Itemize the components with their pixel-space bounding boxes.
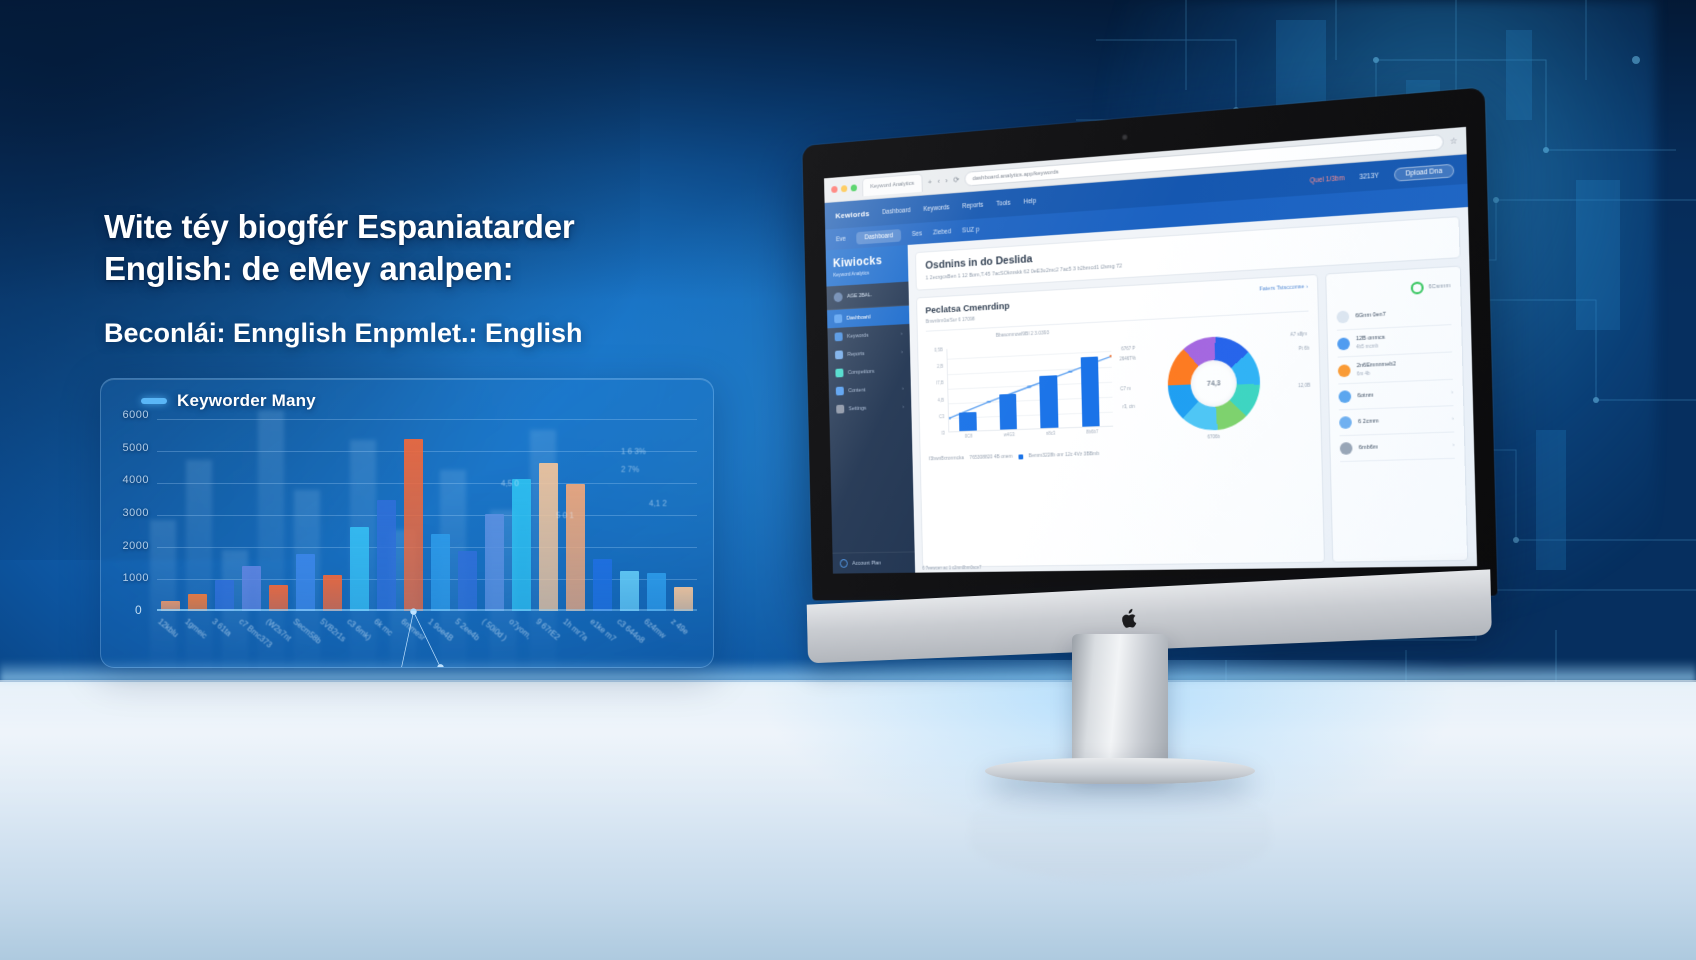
chart-y-axis: 6000 5000 4000 3000 2000 1000 bbox=[107, 415, 153, 611]
account-icon bbox=[840, 559, 848, 568]
mini-x-tick-label: w4G3 bbox=[1004, 432, 1015, 437]
hero-headline-block: Wite téy biogfér Espaniatarder English: … bbox=[104, 206, 744, 350]
mini-chart-bar bbox=[959, 412, 976, 431]
y-tick-label: 6000 bbox=[123, 409, 149, 421]
list-item-text: 6mb6m bbox=[1359, 442, 1447, 451]
donut-wrapper: 74,3 bbox=[1167, 335, 1261, 432]
forward-icon[interactable]: › bbox=[945, 176, 948, 185]
legend-swatch-icon bbox=[141, 398, 167, 404]
status-badge-label: 6Csnnm bbox=[1428, 283, 1450, 291]
x-tick-label: 1h mr7a bbox=[562, 617, 590, 643]
x-tick-label: ( 50i0d ) bbox=[481, 617, 509, 643]
donut-label-right-1: Pt 6b bbox=[1298, 346, 1309, 352]
donut-label-right-2: 12,0B bbox=[1298, 383, 1310, 389]
webcam-icon bbox=[1122, 134, 1128, 140]
nav-item-reports[interactable]: Reports bbox=[962, 201, 983, 209]
mini-x-tick-label: 0C8 bbox=[965, 434, 973, 439]
sidebar-item-label: Dashboard bbox=[847, 314, 871, 321]
card-footer-right: Bemm3228b onr 12c 4Vz 3BBmb bbox=[1029, 451, 1100, 459]
y-tick-label: 4000 bbox=[123, 474, 149, 486]
sidebar-item-label: Settings bbox=[849, 405, 867, 411]
x-tick-label: 3 61ta bbox=[211, 617, 234, 638]
donut-label-bottom: 6706b bbox=[1207, 434, 1220, 439]
chart-annotation: 1 6 3% bbox=[621, 447, 646, 456]
donut-label-right-0: A7 s8jm bbox=[1290, 331, 1307, 337]
chart-icon bbox=[835, 350, 843, 359]
list-item-text: 12B onmcs4b5 mcmb bbox=[1356, 332, 1446, 350]
chart-annotation: 4,1 2 bbox=[649, 499, 667, 508]
x-tick-label: z 49e bbox=[670, 617, 691, 636]
headline-subline: Beconlái: Ennglish Enpmlet.: English bbox=[104, 317, 744, 349]
mini-y-tick-label: 0,5B bbox=[934, 347, 943, 352]
globe-icon bbox=[1340, 442, 1353, 455]
sidebar-footer-label: Account Plan bbox=[852, 560, 881, 566]
minimize-icon[interactable] bbox=[841, 185, 847, 192]
x-tick-label: 12kblu bbox=[157, 617, 181, 639]
donut-label-left-1: 2646T% bbox=[1120, 356, 1136, 362]
sidebar-footer[interactable]: Account Plan bbox=[832, 551, 915, 573]
mini-y-tick-label: C3 bbox=[939, 414, 944, 419]
chart-annotation: 5 0 1 bbox=[556, 511, 574, 520]
apple-logo-icon bbox=[1121, 609, 1138, 630]
x-tick-label: e1ke m7 bbox=[589, 617, 618, 644]
x-tick-label: o7yom, bbox=[508, 617, 534, 641]
y-tick-label-zero: 0 bbox=[135, 603, 142, 617]
list-item-title: 6 2cmm bbox=[1358, 416, 1446, 425]
x-tick-label: c3 644o8 bbox=[616, 617, 647, 645]
list-item-title: 6otnm bbox=[1357, 390, 1445, 400]
nav-item-keywords[interactable]: Keywords bbox=[923, 204, 949, 213]
list-item[interactable]: 6mb6m› bbox=[1340, 433, 1455, 463]
progress-ring-icon bbox=[1410, 281, 1423, 294]
y-tick-label: 2000 bbox=[123, 540, 149, 552]
mini-chart-bar bbox=[1040, 376, 1059, 429]
x-tick-label: Secm58b bbox=[292, 617, 324, 646]
card-more-link[interactable]: Faters Tstscconse › bbox=[1259, 284, 1308, 293]
x-tick-label: 6mmesr bbox=[400, 617, 428, 642]
card-visualizations: Bbasomnowl9Bl 2 3.0393 0,5B2,Bl7,B4,BC3l… bbox=[926, 317, 1312, 451]
list-item-title: 6Gnm 0en7 bbox=[1355, 309, 1444, 320]
dashboard-main: Osdnins in do Deslida 1 2ecrgcsBen 1 12 … bbox=[908, 207, 1477, 573]
chart-legend: Keyworder Many bbox=[141, 391, 316, 411]
chart-line-marker bbox=[437, 664, 443, 668]
mini-chart-title: Bbasomnowl9Bl 2 3.0393 bbox=[996, 330, 1049, 339]
subnav-item-4[interactable]: SUZ p bbox=[962, 226, 979, 234]
activity-list: 6Gnm 0en712B onmcs4b5 mcmb2n6Emnnmeb26m … bbox=[1336, 299, 1454, 462]
list-item-text: 6Gnm 0en7 bbox=[1355, 309, 1444, 320]
list-item[interactable]: 6 2cmm› bbox=[1339, 406, 1454, 436]
sidebar-logo: Kiwiocks bbox=[833, 252, 901, 270]
list-item-subtitle: 6m 4b bbox=[1357, 367, 1446, 376]
folder-icon bbox=[1339, 416, 1352, 429]
app-body: Kiwiocks Keyword Analytics AGE 2BAL. Das… bbox=[826, 207, 1477, 574]
subnav-item-dashboard[interactable]: Dashboard bbox=[856, 229, 901, 245]
mini-chart-y-axis: 0,5B2,Bl7,B4,BC3l3 bbox=[926, 349, 946, 433]
dashboard-cards: Peclatsa Cmenrdinp Faters Tstscconse › B… bbox=[916, 266, 1468, 568]
monitor-stand-foot bbox=[985, 758, 1255, 784]
avatar bbox=[834, 292, 843, 302]
page-title: Wite téy biogfér Espaniatarder English: … bbox=[104, 206, 744, 289]
donut-chart: 74,3 6767 P 2646T% C7 m r3, ctn A7 s8jm bbox=[1119, 317, 1312, 445]
mini-y-tick-label: 4,B bbox=[938, 397, 944, 402]
clock-icon bbox=[1338, 364, 1351, 377]
nav-item-dashboard[interactable]: Dashboard bbox=[882, 207, 911, 216]
bookmark-icon[interactable]: ☆ bbox=[1450, 136, 1458, 146]
cloud-icon bbox=[1337, 310, 1350, 323]
activity-panel: 6Csnnm 6Gnm 0en712B onmcs4b5 mcmb2n6Emnn… bbox=[1325, 266, 1468, 563]
card-footer-left: f3bwnBrzonmcka bbox=[929, 455, 964, 462]
chart-annotation: 2 7% bbox=[621, 465, 639, 474]
chevron-right-icon: › bbox=[1451, 389, 1453, 395]
subnav-item-3[interactable]: Ziebed bbox=[933, 228, 951, 236]
imac-computer: Keyword Analytics + ‹ › ⟳ dashboard.anal… bbox=[760, 118, 1480, 798]
mini-x-tick-label: 8b6b7 bbox=[1086, 429, 1098, 434]
tag-icon bbox=[835, 332, 843, 341]
monitor-screen: Keyword Analytics + ‹ › ⟳ dashboard.anal… bbox=[824, 127, 1477, 574]
alert-text: Quel 1/3bm bbox=[1310, 174, 1345, 184]
nav-item-tools[interactable]: Tools bbox=[996, 199, 1010, 207]
list-item-text: 6 2cmm bbox=[1358, 416, 1446, 425]
app-brand: Kewiords bbox=[835, 209, 869, 220]
list-item-title: 6mb6m bbox=[1359, 442, 1447, 451]
mini-y-tick-label: l3 bbox=[941, 430, 944, 435]
chevron-right-icon: › bbox=[1453, 442, 1455, 448]
browser-tab[interactable]: Keyword Analytics bbox=[862, 173, 922, 196]
list-item-text: 6otnm bbox=[1357, 390, 1445, 400]
reload-icon[interactable]: ⟳ bbox=[953, 175, 959, 184]
back-icon[interactable]: ‹ bbox=[937, 177, 940, 186]
performance-card: Peclatsa Cmenrdinp Faters Tstscconse › B… bbox=[916, 274, 1325, 568]
y-tick-label: 1000 bbox=[123, 572, 149, 584]
mail-icon bbox=[1337, 337, 1350, 350]
mini-y-tick-label: l7,B bbox=[936, 380, 943, 385]
sidebar-item-label: Reports bbox=[847, 351, 864, 358]
scene: Wite téy biogfér Espaniatarder English: … bbox=[0, 0, 1696, 960]
close-icon[interactable] bbox=[831, 186, 837, 193]
x-tick-label: 6k mc bbox=[373, 617, 395, 638]
donut-ring: 74,3 bbox=[1167, 335, 1261, 432]
donut-label-left-0: 6767 P bbox=[1121, 346, 1135, 352]
x-tick-label: 9 67rE2 bbox=[535, 617, 562, 642]
chart-plot-area bbox=[157, 419, 697, 611]
sidebar-user-name: AGE 2BAL. bbox=[847, 292, 872, 299]
headline-line-2: English: de eMey analpen: bbox=[104, 250, 513, 287]
y-tick-label: 5000 bbox=[123, 442, 149, 454]
chart-baseline-axis bbox=[157, 609, 697, 611]
chevron-right-icon: › bbox=[1452, 416, 1454, 422]
chevron-right-icon: › bbox=[903, 404, 905, 410]
x-tick-label: 5VB2r1s bbox=[319, 617, 348, 644]
subnav-item-2[interactable]: Ses bbox=[912, 230, 922, 237]
new-tab-button[interactable]: + bbox=[928, 177, 932, 186]
sidebar-item-label: Keywords bbox=[847, 332, 869, 339]
x-tick-label: c3 6mk) bbox=[346, 617, 374, 642]
legend-swatch-icon bbox=[1018, 454, 1023, 459]
stand-reflection bbox=[970, 784, 1270, 880]
donut-center-label: 74,3 bbox=[1207, 380, 1221, 388]
card-footer-mid: 765308820 4B onem bbox=[969, 454, 1012, 461]
sidebar-nav: DashboardKeywords›Reports›CompetitorsCon… bbox=[827, 306, 912, 419]
upload-data-button[interactable]: Dpload Dna bbox=[1394, 163, 1455, 181]
grid-icon bbox=[834, 314, 842, 323]
dashboard-sidebar: Kiwiocks Keyword Analytics AGE 2BAL. Das… bbox=[826, 245, 915, 574]
chevron-right-icon: › bbox=[901, 331, 903, 337]
x-tick-label: 6z4mw bbox=[643, 617, 668, 640]
sidebar-brand: Kiwiocks Keyword Analytics bbox=[826, 245, 909, 287]
nav-item-help[interactable]: Help bbox=[1023, 197, 1036, 205]
window-controls[interactable] bbox=[831, 184, 857, 193]
card-icon bbox=[1338, 390, 1351, 403]
sidebar-item-settings[interactable]: Settings› bbox=[829, 397, 911, 418]
sidebar-tagline: Keyword Analytics bbox=[833, 269, 901, 279]
list-item-text: 2n6Emnnmeb26m 4b bbox=[1357, 359, 1447, 376]
doc-icon bbox=[836, 387, 844, 396]
headline-line-1: Wite téy biogfér Espaniatarder bbox=[104, 208, 575, 245]
mini-chart-bar bbox=[1081, 357, 1100, 427]
chart-x-axis-labels: 12kblu1gmeic3 61tac7 Bmc373(W2s7ntSecm58… bbox=[157, 613, 697, 661]
monitor-bezel: Keyword Analytics + ‹ › ⟳ dashboard.anal… bbox=[802, 87, 1497, 600]
mini-y-tick-label: 2,B bbox=[937, 363, 943, 368]
monitor-stand-neck bbox=[1072, 634, 1168, 770]
card-title: Peclatsa Cmenrdinp bbox=[925, 301, 1009, 316]
donut-label-left-3: r3, ctn bbox=[1123, 404, 1135, 409]
target-icon bbox=[835, 369, 843, 378]
x-tick-label: 5 2ee4b bbox=[454, 617, 482, 642]
keyword-chart-panel: Keyworder Many 6000 5000 4000 3000 2000 … bbox=[100, 378, 714, 668]
x-tick-label: 1gmeic bbox=[184, 617, 210, 640]
mini-chart-plot bbox=[946, 341, 1113, 433]
mini-chart-bar bbox=[999, 394, 1017, 430]
mini-x-tick-label: n8c3 bbox=[1046, 431, 1055, 436]
gear-icon bbox=[836, 405, 844, 414]
y-tick-label: 3000 bbox=[123, 507, 149, 519]
maximize-icon[interactable] bbox=[851, 184, 857, 191]
mini-bar-chart: Bbasomnowl9Bl 2 3.0393 0,5B2,Bl7,B4,BC3l… bbox=[926, 327, 1116, 451]
legend-label: Keyworder Many bbox=[177, 391, 316, 411]
alert-note: 3213Y bbox=[1359, 172, 1379, 181]
chart-annotation: 4,5 0 bbox=[501, 479, 519, 488]
sidebar-item-label: Content bbox=[848, 387, 865, 393]
chevron-right-icon: › bbox=[902, 385, 904, 391]
sidebar-item-label: Competitors bbox=[848, 368, 874, 375]
x-tick-label: 1 9oe4B bbox=[427, 617, 456, 643]
chevron-right-icon: › bbox=[901, 349, 903, 355]
donut-label-left-2: C7 m bbox=[1120, 386, 1131, 391]
subnav-item-0[interactable]: Eve bbox=[836, 235, 846, 242]
